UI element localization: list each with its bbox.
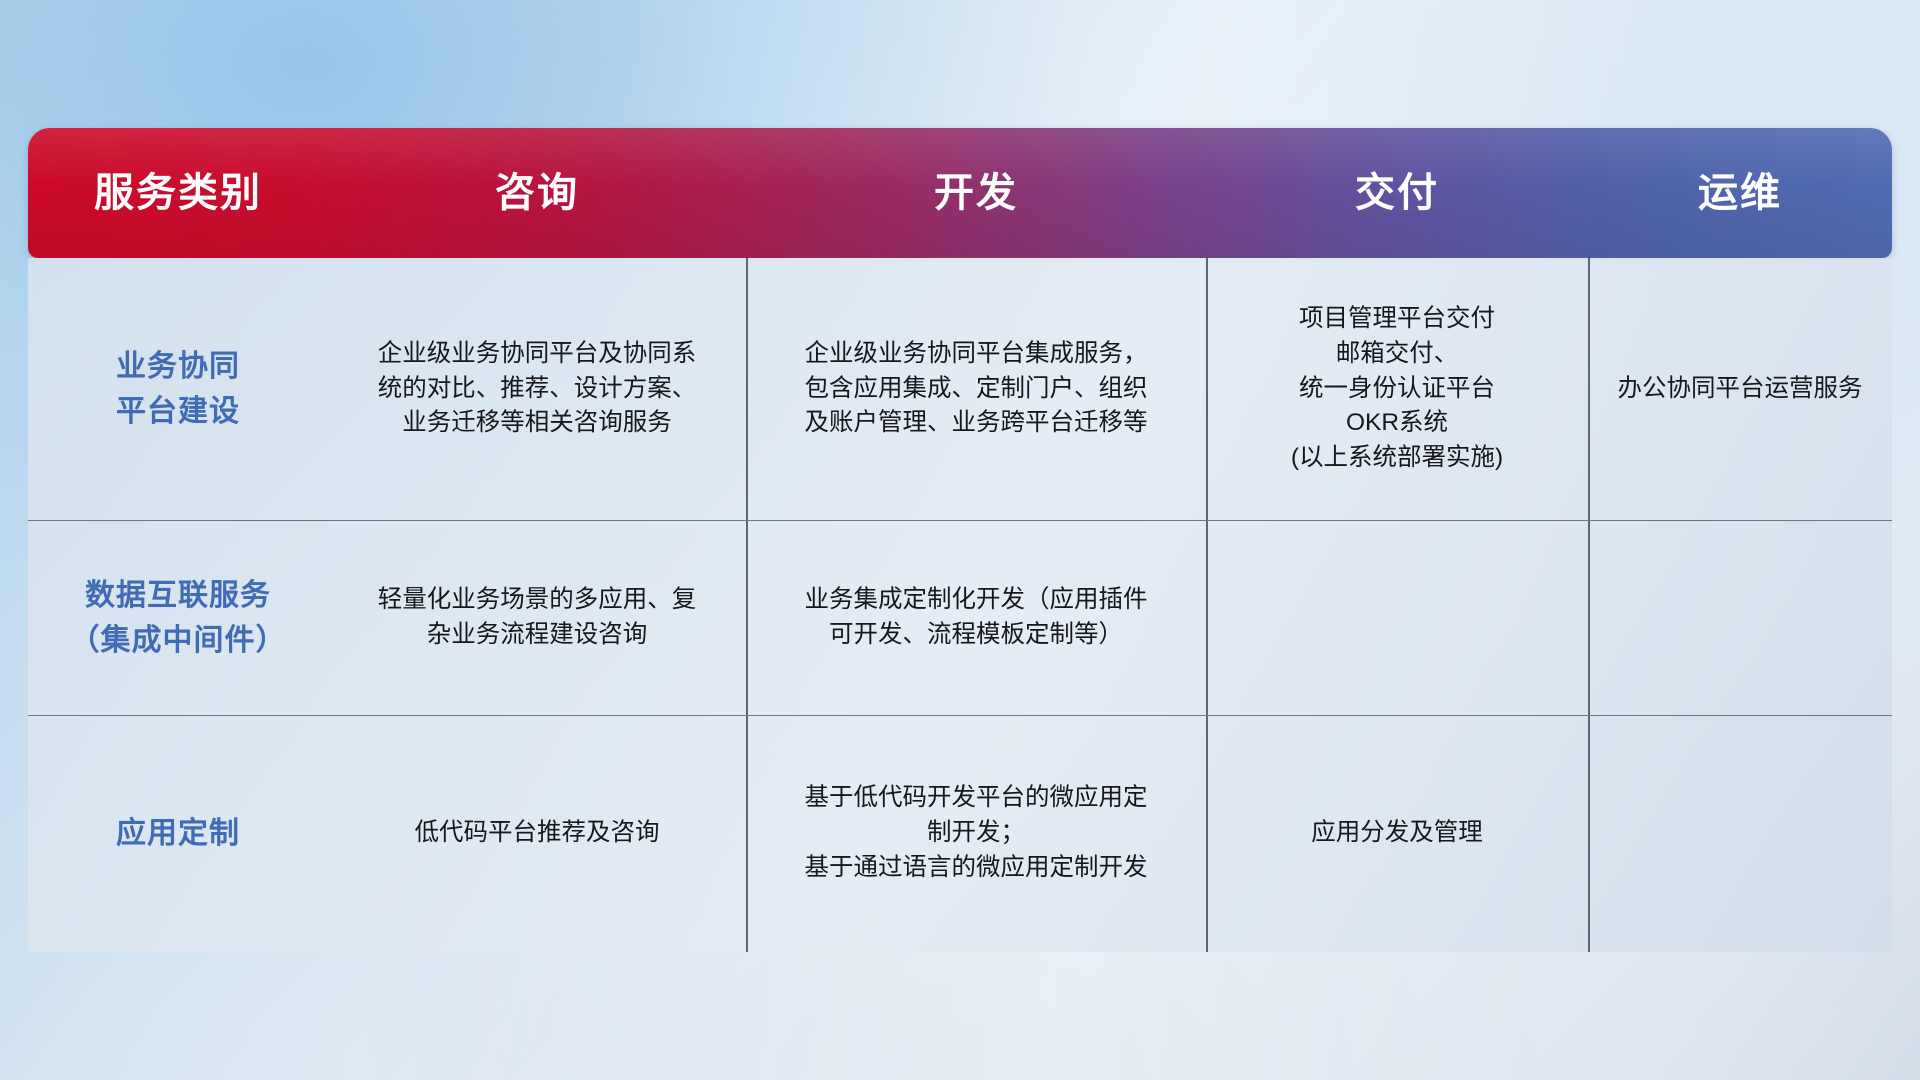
service-matrix-table: 服务类别 咨询 开发 交付 运维 业务协同 平台建设 企业级业务协同平台及协同系… (28, 128, 1892, 952)
column-header-consulting: 咨询 (328, 173, 746, 213)
cell-consulting: 低代码平台推荐及咨询 (328, 715, 746, 952)
cell-development: 企业级业务协同平台集成服务， 包含应用集成、定制门户、组织 及账户管理、业务跨平… (746, 258, 1206, 520)
column-header-development: 开发 (746, 173, 1206, 213)
row-category-label: 数据互联服务 （集成中间件） (28, 520, 328, 715)
table-row: 应用定制 低代码平台推荐及咨询 基于低代码开发平台的微应用定 制开发； 基于通过… (28, 715, 1892, 952)
cell-delivery (1206, 520, 1588, 715)
table-body: 业务协同 平台建设 企业级业务协同平台及协同系 统的对比、推荐、设计方案、 业务… (28, 258, 1892, 952)
cell-delivery: 项目管理平台交付 邮箱交付、 统一身份认证平台 OKR系统 (以上系统部署实施) (1206, 258, 1588, 520)
cell-consulting: 轻量化业务场景的多应用、复 杂业务流程建设咨询 (328, 520, 746, 715)
cell-operations (1588, 520, 1892, 715)
table-header-row: 服务类别 咨询 开发 交付 运维 (28, 128, 1892, 258)
row-category-label: 应用定制 (28, 715, 328, 952)
cell-consulting: 企业级业务协同平台及协同系 统的对比、推荐、设计方案、 业务迁移等相关咨询服务 (328, 258, 746, 520)
cell-operations (1588, 715, 1892, 952)
table-row: 业务协同 平台建设 企业级业务协同平台及协同系 统的对比、推荐、设计方案、 业务… (28, 258, 1892, 520)
cell-operations: 办公协同平台运营服务 (1588, 258, 1892, 520)
column-header-category: 服务类别 (28, 173, 328, 213)
cell-delivery: 应用分发及管理 (1206, 715, 1588, 952)
page-background: 服务类别 咨询 开发 交付 运维 业务协同 平台建设 企业级业务协同平台及协同系… (0, 0, 1920, 1080)
column-header-operations: 运维 (1588, 173, 1892, 213)
cell-development: 基于低代码开发平台的微应用定 制开发； 基于通过语言的微应用定制开发 (746, 715, 1206, 952)
cell-development: 业务集成定制化开发（应用插件 可开发、流程模板定制等） (746, 520, 1206, 715)
row-category-label: 业务协同 平台建设 (28, 258, 328, 520)
column-header-delivery: 交付 (1206, 173, 1588, 213)
table-row: 数据互联服务 （集成中间件） 轻量化业务场景的多应用、复 杂业务流程建设咨询 业… (28, 520, 1892, 715)
